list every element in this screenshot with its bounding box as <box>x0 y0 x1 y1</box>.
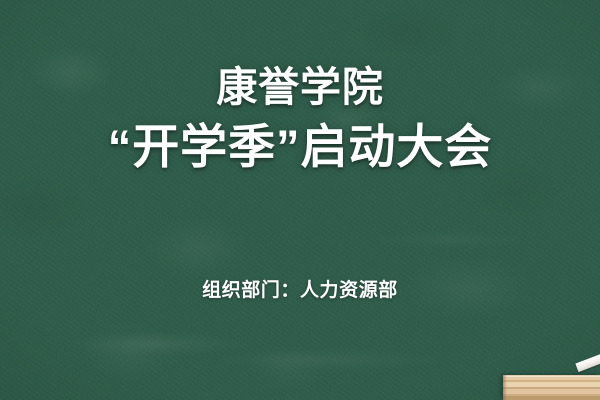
chalkboard-slide: 康誉学院 “开学季”启动大会 组织部门：人力资源部 <box>0 0 600 400</box>
title-line-1: 康誉学院 <box>0 62 600 112</box>
chalk-ledge-left-cap <box>503 375 507 400</box>
subtitle-organizing-department: 组织部门：人力资源部 <box>0 275 600 302</box>
title-line-2: “开学季”启动大会 <box>0 118 600 175</box>
chalk-ledge <box>503 375 600 400</box>
chalk-ledge-highlight <box>503 375 600 377</box>
slide-content: 康誉学院 “开学季”启动大会 组织部门：人力资源部 <box>0 0 600 400</box>
title-block: 康誉学院 “开学季”启动大会 <box>0 62 600 175</box>
